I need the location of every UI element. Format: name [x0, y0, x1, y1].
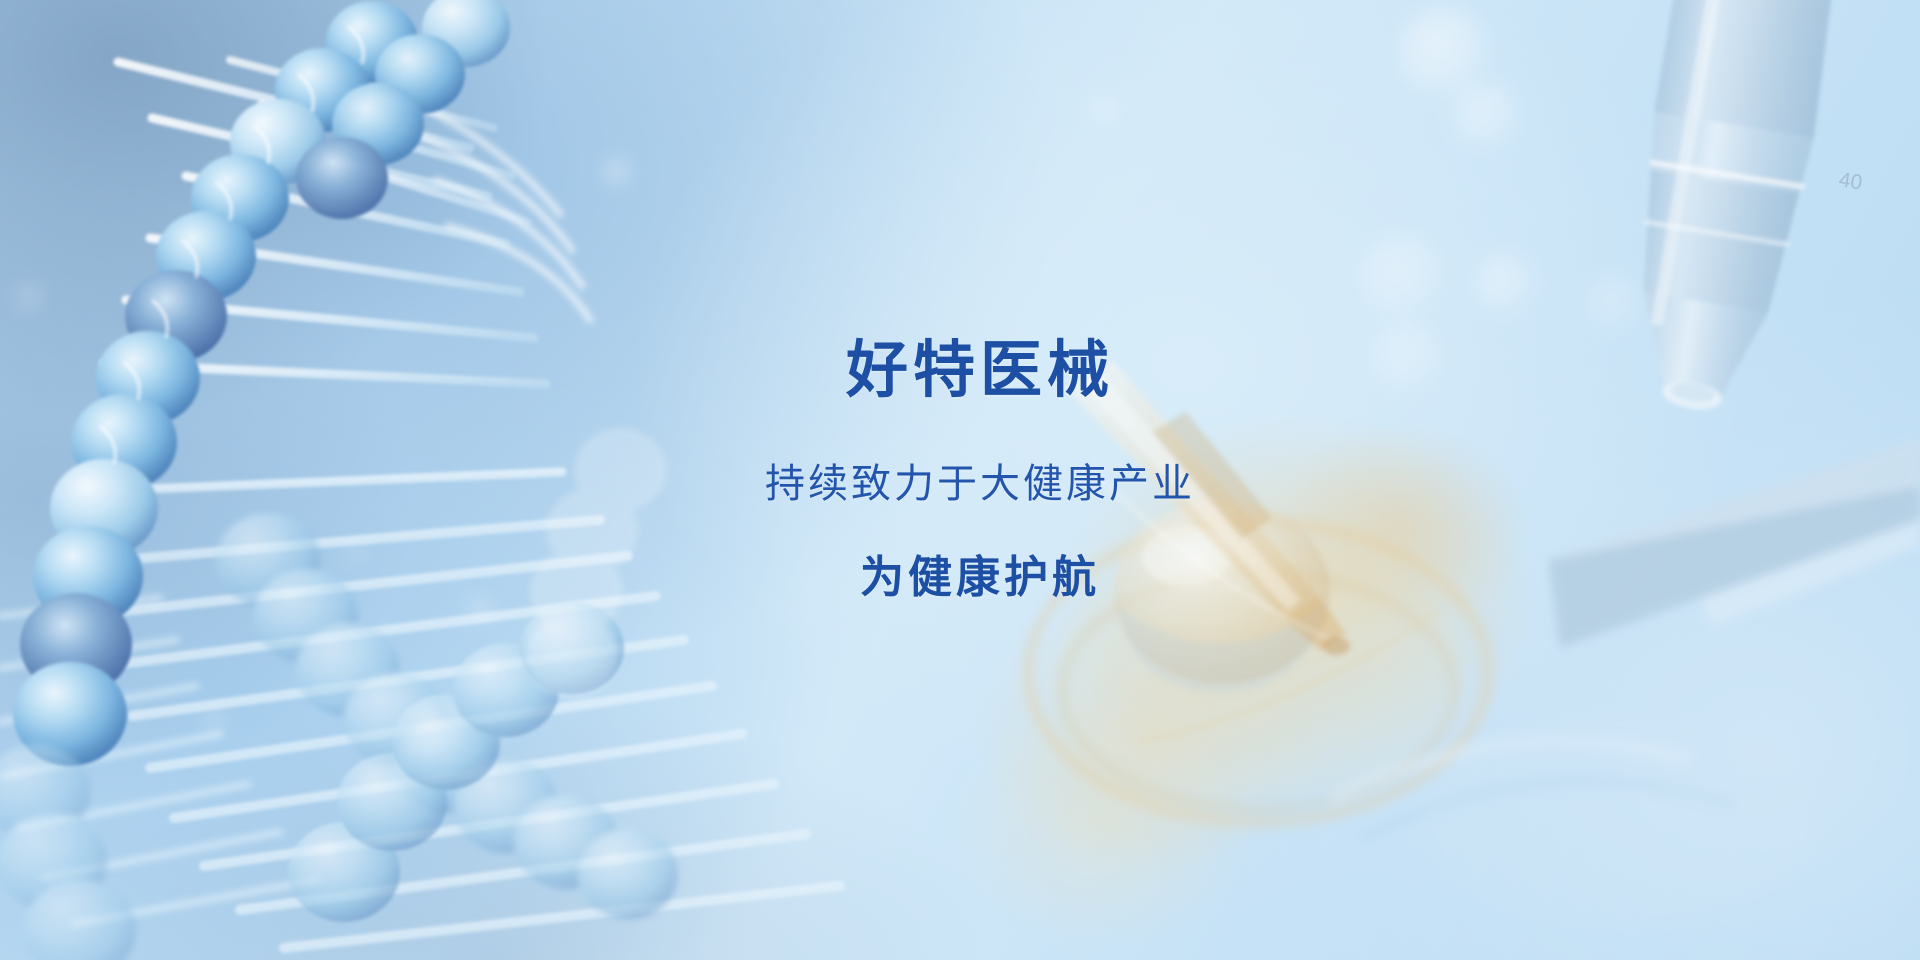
banner-text-block: 好特医械 持续致力于大健康产业 为健康护航	[0, 340, 1920, 600]
hero-banner: 40	[0, 0, 1920, 960]
banner-tagline: 为健康护航	[40, 556, 1920, 600]
banner-subheadline: 持续致力于大健康产业	[40, 464, 1920, 504]
banner-headline: 好特医械	[40, 340, 1920, 402]
